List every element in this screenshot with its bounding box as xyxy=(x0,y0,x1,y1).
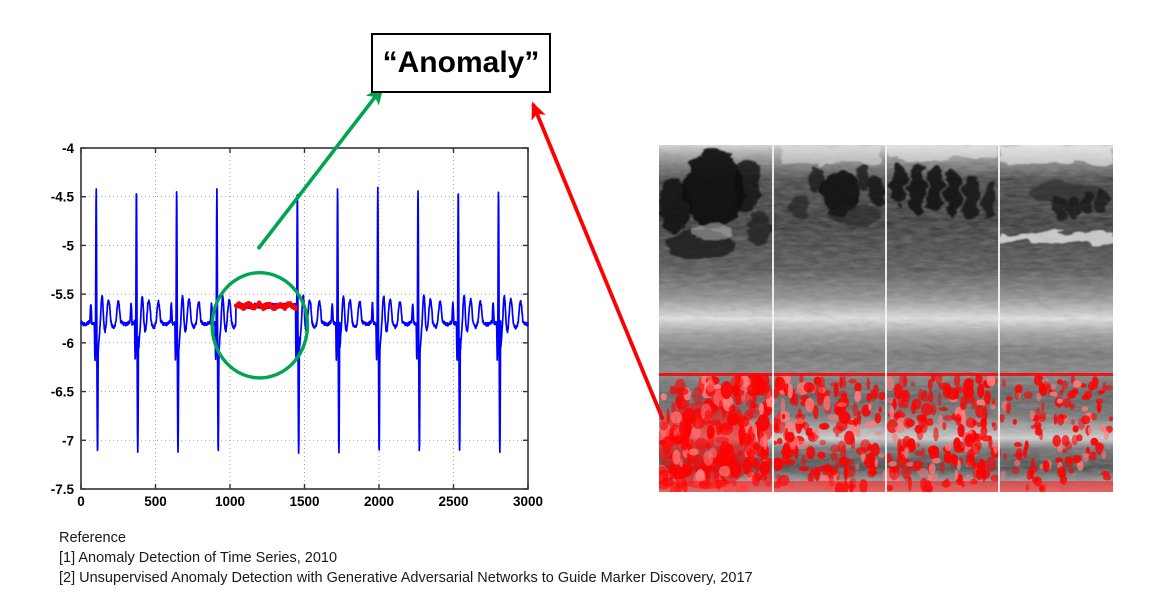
anomaly-heat-blob xyxy=(1101,471,1110,476)
anomaly-heat-blob xyxy=(676,396,682,409)
anomaly-heat-blob xyxy=(760,436,769,447)
anomaly-heat-blob xyxy=(856,447,866,455)
anomaly-heat-blob xyxy=(954,470,958,481)
chart-y-tick-label: -6.5 xyxy=(51,385,75,400)
anomaly-heat-blob xyxy=(1040,412,1047,419)
anomaly-heat-blob xyxy=(928,445,939,455)
chart-x-tick-label: 2000 xyxy=(364,494,394,509)
anomaly-heat-blob xyxy=(1071,419,1075,425)
anomaly-heat-blob xyxy=(1065,456,1073,462)
anomaly-heat-blob xyxy=(908,444,916,452)
anomaly-heat-blob xyxy=(797,408,801,417)
anomaly-heat-blob xyxy=(897,454,906,468)
chart-x-tick-label: 1500 xyxy=(289,494,319,509)
anomaly-heat-blob xyxy=(688,448,698,455)
chart-svg: -4-4.5-5-5.5-6-6.5-7-7.5 050010001500200… xyxy=(40,130,550,510)
anomaly-heat-blob xyxy=(993,423,998,431)
anomaly-heat-blob xyxy=(728,448,732,452)
anomaly-heat-blob xyxy=(889,466,900,480)
anomaly-heat-blob xyxy=(892,433,898,442)
anomaly-heat-blob xyxy=(1036,393,1041,401)
anomaly-heat-blob xyxy=(1061,381,1068,390)
anomaly-heat-blob xyxy=(683,422,690,439)
anomaly-heat-blob xyxy=(659,421,668,431)
anomaly-heat-blob xyxy=(1062,449,1067,454)
anomaly-heat-blob xyxy=(1041,401,1044,412)
anomaly-heat-blob xyxy=(794,445,798,460)
anomaly-heat-blob xyxy=(754,458,761,472)
anomaly-heat-blob xyxy=(705,464,709,479)
anomaly-heat-blob xyxy=(939,407,948,411)
anomaly-heat-blob xyxy=(921,447,925,458)
anomaly-heat-blob xyxy=(773,424,780,434)
anomaly-heat-blob xyxy=(1038,376,1043,380)
anomaly-heat-blob xyxy=(799,467,810,471)
anomaly-heat-blob xyxy=(1014,460,1020,467)
anomaly-heat-blob xyxy=(987,375,996,387)
chart-x-tick-labels: 050010001500200025003000 xyxy=(77,494,543,509)
anomaly-heat-blob xyxy=(889,406,894,419)
anomaly-heat-blob xyxy=(695,438,708,450)
reference-item-1: [1] Anomaly Detection of Time Series, 20… xyxy=(59,548,1009,568)
anomaly-heat-blob xyxy=(1031,458,1035,469)
anomaly-heat-blob xyxy=(788,384,793,398)
anomaly-heat-blob xyxy=(988,435,992,449)
anomaly-heat-blob xyxy=(864,453,876,468)
chart-x-tick-label: 2500 xyxy=(438,494,468,509)
slide-canvas: -4-4.5-5-5.5-6-6.5-7-7.5 050010001500200… xyxy=(0,0,1162,614)
anomaly-heat-blob xyxy=(661,393,667,400)
anomaly-heat-blob xyxy=(867,469,875,478)
anomaly-heat-blob xyxy=(806,446,815,459)
anomaly-heat-blob xyxy=(1006,396,1012,401)
anomaly-heat-blob xyxy=(731,376,744,390)
anomaly-heat-blob xyxy=(867,378,870,390)
anomaly-heat-blob xyxy=(844,431,854,445)
anomaly-heat-blob xyxy=(727,413,740,426)
anomaly-heat-blob xyxy=(766,407,772,412)
anomaly-heat-blob xyxy=(975,405,984,418)
anomaly-heat-blob xyxy=(754,443,761,451)
anomaly-heat-blob xyxy=(1084,391,1092,400)
anomaly-heat-blob xyxy=(942,422,946,430)
anomaly-heat-blob xyxy=(875,431,882,436)
anomaly-heat-blob xyxy=(940,462,945,474)
anomaly-heat-blob xyxy=(865,421,877,427)
anomaly-heat-blob xyxy=(954,447,965,453)
anomaly-heat-blob xyxy=(932,458,941,464)
anomaly-heat-blob xyxy=(817,452,826,459)
anomaly-heat-blob xyxy=(888,461,896,466)
anomaly-heat-blob xyxy=(762,461,771,467)
anomaly-heat-blob xyxy=(939,415,943,429)
anomaly-heat-blob xyxy=(977,464,981,476)
anomaly-segment-line xyxy=(236,302,296,309)
anomaly-heat-blob xyxy=(740,433,751,445)
anomaly-heat-blob xyxy=(1006,402,1011,413)
anomaly-heat-blob xyxy=(923,390,928,397)
anomaly-heat-blob xyxy=(993,440,998,454)
anomaly-heat-blob xyxy=(781,398,785,413)
anomaly-heat-blob xyxy=(841,393,847,401)
anomaly-heat-blob xyxy=(973,468,977,479)
anomaly-heat-blob xyxy=(909,466,921,471)
anomaly-heat-blob xyxy=(1082,453,1091,457)
oct-image-panels xyxy=(659,145,1113,492)
chart-y-tick-label: -6 xyxy=(62,336,74,351)
anomaly-heat-blob xyxy=(847,420,856,425)
anomaly-heat-blob xyxy=(963,378,973,391)
anomaly-heat-blob xyxy=(684,439,694,450)
anomaly-heat-blob xyxy=(943,415,954,421)
anomaly-heat-blob xyxy=(818,466,826,472)
anomaly-heat-blob xyxy=(719,400,723,410)
anomaly-heat-blob xyxy=(1076,434,1083,441)
anomaly-heat-blob xyxy=(1015,389,1019,400)
anomaly-heat-blob xyxy=(1081,415,1090,424)
anomaly-heat-blob xyxy=(1065,441,1072,450)
anomaly-heat-blob xyxy=(1100,425,1106,433)
anomaly-callout-label: “Anomaly” xyxy=(383,46,540,80)
anomaly-heat-blob xyxy=(692,417,704,429)
anomaly-heat-blob xyxy=(855,463,859,470)
anomaly-heat-blob xyxy=(1070,405,1074,410)
anomaly-heat-blob xyxy=(1016,448,1023,460)
anomaly-heat-blob xyxy=(703,450,713,466)
anomaly-heat-blob xyxy=(777,438,783,445)
anomaly-heat-blob xyxy=(1023,447,1027,459)
anomaly-heat-blob xyxy=(795,418,805,424)
oct-image-body xyxy=(659,145,1113,492)
anomaly-heat-blob xyxy=(759,403,764,415)
anomaly-heat-blob xyxy=(943,384,952,399)
anomaly-heat-blob xyxy=(879,453,885,458)
anomaly-heat-blob xyxy=(982,471,986,482)
anomaly-callout-box: “Anomaly” xyxy=(371,33,551,93)
anomaly-heat-blob xyxy=(823,422,827,429)
timeseries-chart: -4-4.5-5-5.5-6-6.5-7-7.5 050010001500200… xyxy=(40,130,550,510)
anomaly-heat-blob xyxy=(1051,384,1056,390)
reference-block: Reference [1] Anomaly Detection of Time … xyxy=(59,528,1009,588)
anomaly-heat-blob xyxy=(986,457,996,472)
anomaly-heat-blob xyxy=(889,468,895,473)
anomaly-heat-blob xyxy=(669,465,677,480)
anomaly-heat-blob xyxy=(757,423,760,438)
anomaly-heat-blob xyxy=(842,376,846,389)
anomaly-heat-blob xyxy=(784,459,795,466)
anomaly-heat-blob xyxy=(967,449,975,462)
red-arrow-to-callout xyxy=(533,104,663,420)
anomaly-heat-blob xyxy=(815,427,820,441)
anomaly-heat-blob xyxy=(830,382,841,387)
anomaly-heat-blob xyxy=(837,402,847,407)
anomaly-heat-blob xyxy=(878,407,882,413)
anomaly-heat-blob xyxy=(1102,382,1106,393)
anomaly-heat-blob xyxy=(1054,414,1058,425)
anomaly-heat-blob xyxy=(804,382,815,393)
anomaly-heat-blob xyxy=(929,463,936,474)
anomaly-heat-blob xyxy=(928,379,933,390)
anomaly-heat-blob xyxy=(1088,427,1091,435)
anomaly-heat-blob xyxy=(906,462,914,467)
chart-y-tick-label: -7 xyxy=(62,433,74,448)
anomaly-heat-blob xyxy=(839,458,845,462)
anomaly-heat-blob xyxy=(662,436,671,455)
anomaly-heat-blob xyxy=(1102,451,1107,459)
anomaly-heat-blob xyxy=(664,455,668,460)
anomaly-heat-blob xyxy=(673,436,686,445)
anomaly-heat-blob xyxy=(905,419,915,427)
chart-x-tick-label: 500 xyxy=(144,494,167,509)
anomaly-heat-blob xyxy=(833,426,844,434)
anomaly-heat-blob xyxy=(868,444,873,449)
anomaly-heat-blob xyxy=(819,440,826,446)
anomaly-heat-blob xyxy=(735,389,742,406)
anomaly-heat-blob xyxy=(928,390,933,403)
anomaly-heat-blob xyxy=(805,398,814,412)
anomaly-heat-blob xyxy=(1057,467,1066,478)
anomaly-heat-blob xyxy=(1068,468,1074,473)
anomaly-heat-blob xyxy=(746,456,751,470)
anomaly-heat-blob xyxy=(1049,392,1057,397)
anomaly-heat-blob xyxy=(670,411,682,423)
anomaly-heat-blob xyxy=(808,473,813,482)
anomaly-heat-blob xyxy=(1082,406,1088,411)
anomaly-heat-blob xyxy=(894,413,898,421)
anomaly-heat-blob xyxy=(1030,410,1035,420)
anomaly-heat-blob xyxy=(1013,419,1017,425)
anomaly-heat-blob xyxy=(1024,391,1033,399)
anomaly-heat-blob xyxy=(1089,451,1097,461)
anomaly-heat-blob xyxy=(1039,432,1043,441)
anomaly-heat-blob xyxy=(962,432,971,443)
anomaly-heat-blob xyxy=(782,414,785,419)
anomaly-heat-blob xyxy=(991,404,996,409)
anomaly-heat-blob xyxy=(706,380,715,392)
anomaly-heat-blob xyxy=(875,459,878,468)
anomaly-heat-blob xyxy=(984,391,991,405)
anomaly-heat-blob xyxy=(1059,390,1063,396)
anomaly-heat-blob xyxy=(857,424,861,438)
chart-y-tick-label: -5.5 xyxy=(51,287,75,302)
anomaly-heat-blob xyxy=(750,400,757,413)
anomaly-heat-blob xyxy=(824,396,831,411)
anomaly-heat-blob xyxy=(801,455,806,466)
anomaly-heat-blob xyxy=(911,381,916,387)
anomaly-heat-blob xyxy=(1096,399,1104,404)
chart-y-tick-label: -4 xyxy=(62,141,74,156)
anomaly-heat-blob xyxy=(1109,416,1113,421)
anomaly-heat-blob xyxy=(666,408,669,424)
oct-svg xyxy=(659,145,1113,492)
ecg-signal-line xyxy=(81,187,528,453)
anomaly-heat-blob xyxy=(777,411,781,425)
anomaly-heat-blob xyxy=(873,385,879,398)
anomaly-heat-blob xyxy=(901,399,909,406)
anomaly-heat-blob xyxy=(938,392,942,405)
anomaly-heat-blob xyxy=(915,425,923,434)
anomaly-heat-blob xyxy=(1002,379,1006,387)
anomaly-heat-blob xyxy=(1073,455,1082,463)
chart-x-tick-label: 0 xyxy=(77,494,85,509)
reference-heading: Reference xyxy=(59,528,1009,548)
anomaly-heat-blob xyxy=(705,410,713,418)
anomaly-heat-blob xyxy=(912,399,922,410)
anomaly-heat-blob xyxy=(719,466,731,477)
anomaly-heat-blob xyxy=(852,403,857,416)
anomaly-heat-blob xyxy=(895,425,905,433)
anomaly-heat-blob xyxy=(759,474,767,481)
anomaly-heat-blob xyxy=(819,475,828,481)
anomaly-heat-blob xyxy=(1001,471,1006,479)
anomaly-heat-blob xyxy=(921,403,933,416)
anomaly-heat-blob xyxy=(966,418,976,429)
anomaly-heat-blob xyxy=(917,443,920,448)
anomaly-heat-blob xyxy=(752,424,757,434)
anomaly-heat-blob xyxy=(715,437,729,444)
chart-y-tick-labels: -4-4.5-5-5.5-6-6.5-7-7.5 xyxy=(51,141,75,497)
anomaly-heat-blob xyxy=(762,385,769,393)
anomaly-heat-blob xyxy=(675,379,685,392)
chart-y-tick-label: -5 xyxy=(62,238,74,253)
anomaly-heat-blob xyxy=(854,391,861,403)
anomaly-heat-blob xyxy=(1057,414,1065,426)
anomaly-heat-blob xyxy=(1003,453,1007,459)
anomaly-heat-blob xyxy=(1091,413,1097,420)
anomaly-heat-blob xyxy=(928,474,932,481)
anomaly-heat-blob xyxy=(1055,457,1063,463)
anomaly-heat-blob xyxy=(960,403,965,411)
anomaly-heat-blob xyxy=(783,442,791,458)
anomaly-heat-blob xyxy=(835,458,839,474)
anomaly-heat-blob xyxy=(1057,398,1063,403)
anomaly-heat-blob xyxy=(684,417,693,421)
anomaly-heat-blob xyxy=(848,379,856,384)
anomaly-heat-blob xyxy=(868,404,871,411)
anomaly-heat-blob xyxy=(826,466,832,472)
anomaly-heat-blob xyxy=(841,445,847,460)
anomaly-heat-blob xyxy=(955,414,961,426)
anomaly-heat-blob xyxy=(737,451,743,456)
anomaly-heat-blob xyxy=(835,433,839,437)
anomaly-heat-blob xyxy=(1012,467,1020,474)
anomaly-heat-blob xyxy=(1092,377,1099,388)
chart-x-tick-label: 1000 xyxy=(215,494,245,509)
anomaly-heat-blob xyxy=(709,420,718,426)
anomaly-heat-blob xyxy=(933,427,938,441)
anomaly-heat-blob xyxy=(730,460,741,478)
anomaly-heat-blob xyxy=(1034,422,1042,429)
anomaly-heat-blob xyxy=(971,397,977,409)
anomaly-heat-blob xyxy=(1014,442,1022,447)
anomaly-heat-blob xyxy=(845,466,856,478)
anomaly-heat-blob xyxy=(952,454,958,464)
anomaly-heat-blob xyxy=(843,459,854,466)
anomaly-heat-blob xyxy=(1053,435,1061,447)
chart-y-tick-label: -7.5 xyxy=(51,482,75,497)
anomaly-heat-blob xyxy=(720,425,731,431)
anomaly-heat-blob xyxy=(707,434,711,439)
anomaly-heat-blob xyxy=(739,418,742,428)
chart-y-tick-label: -4.5 xyxy=(51,190,75,205)
anomaly-heat-blob xyxy=(721,381,733,399)
chart-x-tick-label: 3000 xyxy=(513,494,543,509)
anomaly-heat-blob xyxy=(706,443,710,449)
anomaly-heat-blob xyxy=(1043,460,1050,472)
anomaly-heat-blob xyxy=(875,413,881,424)
anomaly-heat-blob xyxy=(861,453,866,461)
anomaly-heat-blob xyxy=(981,417,987,429)
reference-item-2: [2] Unsupervised Anomaly Detection with … xyxy=(59,568,1009,588)
anomaly-heat-blob xyxy=(945,443,952,451)
anomaly-heat-blob xyxy=(671,424,677,430)
anomaly-heat-blob xyxy=(828,414,838,420)
anomaly-heat-blob xyxy=(785,428,789,441)
anomaly-heat-blob xyxy=(1073,380,1082,387)
anomaly-heat-blob xyxy=(679,459,683,467)
anomaly-heat-blob xyxy=(999,414,1004,423)
anomaly-heat-blob xyxy=(747,384,757,396)
anomaly-heat-blob xyxy=(813,381,823,395)
anomaly-heat-blob xyxy=(1073,425,1079,432)
anomaly-heat-blob xyxy=(1067,393,1074,399)
